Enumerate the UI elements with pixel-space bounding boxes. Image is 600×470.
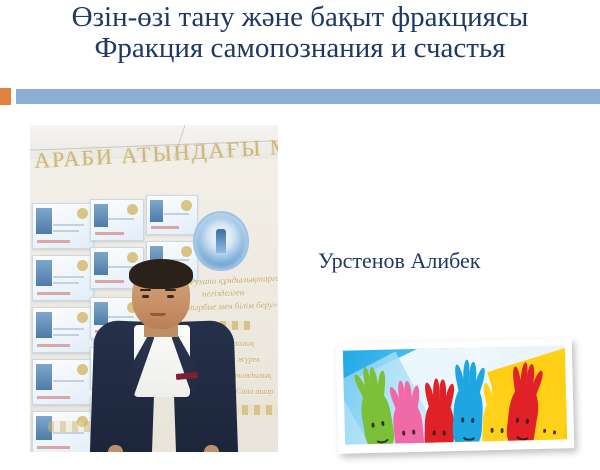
hands-photo [336,338,575,454]
certificate-seal [127,204,138,215]
certificate-portrait [36,260,52,286]
certificate-ribbon [95,232,124,235]
certificate-seal [77,312,88,323]
certificate-line [164,213,189,215]
person-figure [88,263,238,452]
smile [433,437,449,445]
eye [433,430,436,435]
portrait-photo: АРАБИ АТЫНДАҒЫ МЕКТЕ [30,125,278,452]
certificate-line [108,218,134,220]
red-hand [424,399,453,445]
eye [500,428,503,433]
eye [490,428,493,433]
eye [412,429,415,434]
smile [372,428,390,445]
slide-title: Өзін-өзі тану және бақыт фракциясы Фракц… [0,2,600,65]
eye [526,419,529,424]
eye [553,430,556,435]
hands-scene [343,345,567,444]
smiley-face [487,426,505,445]
certificate-line [53,230,79,232]
certificate-seal [127,252,138,263]
orange-accent-square [0,88,11,105]
blue-accent-bar [16,89,600,104]
certificate-seal [77,364,88,375]
certificate-ribbon [37,344,70,347]
certificate-line [53,432,84,434]
blue-hand [452,383,484,445]
school-note-4: Сана ашар [236,387,273,396]
hand-left [108,445,123,452]
smile [460,425,477,441]
eye [443,430,446,435]
certificate-line [53,334,79,336]
certificate-line [53,282,79,284]
person-name: Урстенов Алибек [318,248,480,274]
certificate-ribbon [37,446,70,449]
certificate-line [53,276,84,278]
hair [129,259,193,289]
honour-certificate [146,195,198,235]
smiley-face [512,416,532,441]
smile [490,434,507,445]
eyebrow-right [165,289,176,291]
certificate-portrait [36,364,52,390]
certificate-line [53,380,84,382]
certificate-portrait [150,200,163,222]
eye-right [167,295,174,298]
eye [381,421,385,426]
smiley-face [538,426,559,444]
eye [371,423,375,428]
certificate-ribbon [151,226,179,229]
certificate-line [53,328,84,330]
smiley-face [368,419,389,444]
smile [514,425,532,441]
honour-certificate [32,255,94,301]
mouth [150,313,166,316]
certificate-portrait [94,204,108,227]
certificate-seal [77,208,88,219]
eye-left [142,295,149,298]
smile [541,435,559,445]
smile [403,436,420,445]
eyebrow-left [140,289,151,291]
eye [461,417,464,422]
certificate-ribbon [37,292,70,295]
title-line-kazakh: Өзін-өзі тану және бақыт фракциясы [0,2,600,33]
certificate-line [53,224,84,226]
certificate-ribbon [37,396,70,399]
honour-certificate [90,199,144,241]
smiley-face [458,415,477,439]
certificate-seal [181,246,192,257]
certificate-portrait [36,208,52,234]
title-line-russian: Фракция самопознания и счастья [0,33,600,64]
certificate-portrait [36,312,52,338]
honour-certificate [32,307,94,353]
eye [516,418,519,423]
title-divider [0,88,600,105]
eye [471,418,474,423]
smiley-face [399,427,419,444]
smiley-face [430,428,448,444]
certificate-seal [181,200,192,211]
certificate-seal [77,260,88,271]
eye [543,428,546,433]
honour-certificate [32,203,94,249]
honour-certificate [32,359,94,405]
certificate-ribbon [37,240,70,243]
hand-right [204,445,219,452]
eye [402,430,405,435]
school-emblem [193,211,249,271]
